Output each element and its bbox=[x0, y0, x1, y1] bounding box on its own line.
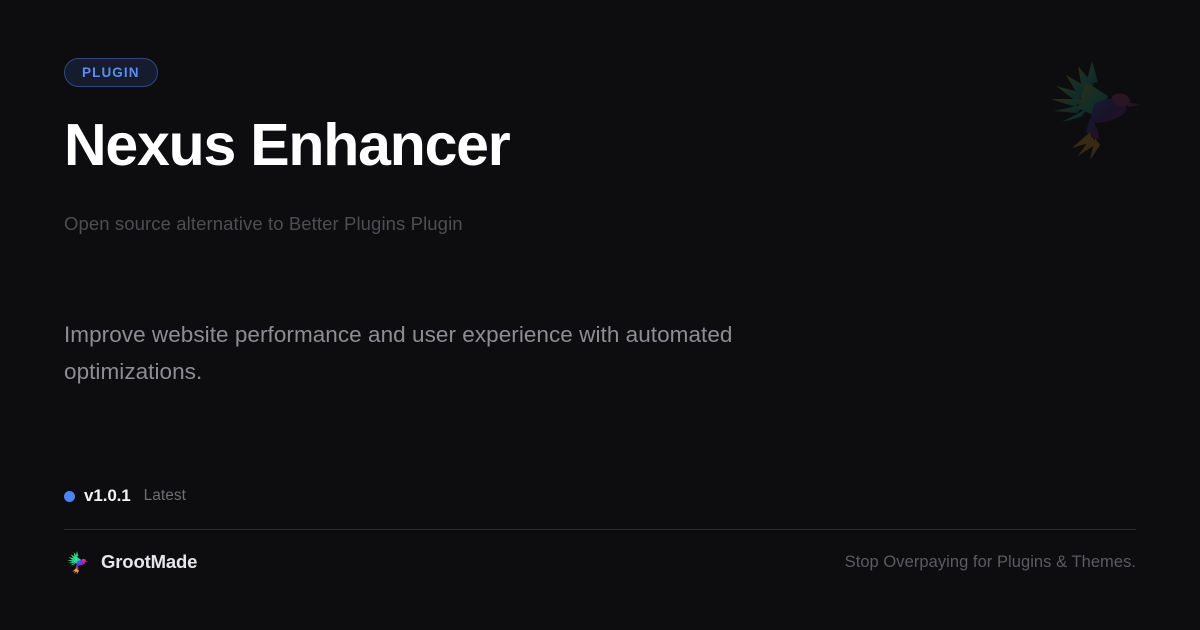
plugin-preview-card: PLUGIN Nexus Enhancer Open source altern… bbox=[0, 0, 1200, 630]
version-row: v1.0.1 Latest bbox=[64, 486, 186, 506]
brand-name: GrootMade bbox=[101, 551, 197, 573]
footer: GrootMade Stop Overpaying for Plugins & … bbox=[64, 546, 1136, 578]
version-tag: Latest bbox=[144, 487, 186, 505]
footer-divider bbox=[64, 529, 1136, 530]
plugin-type-badge: PLUGIN bbox=[64, 58, 158, 87]
hummingbird-logo-icon bbox=[64, 549, 90, 575]
brand: GrootMade bbox=[64, 549, 197, 575]
status-dot-icon bbox=[64, 491, 75, 502]
version-number: v1.0.1 bbox=[84, 486, 131, 506]
page-title: Nexus Enhancer bbox=[64, 115, 1136, 175]
page-subtitle: Open source alternative to Better Plugin… bbox=[64, 213, 1136, 235]
footer-tagline: Stop Overpaying for Plugins & Themes. bbox=[845, 553, 1136, 572]
plugin-description: Improve website performance and user exp… bbox=[64, 317, 854, 391]
